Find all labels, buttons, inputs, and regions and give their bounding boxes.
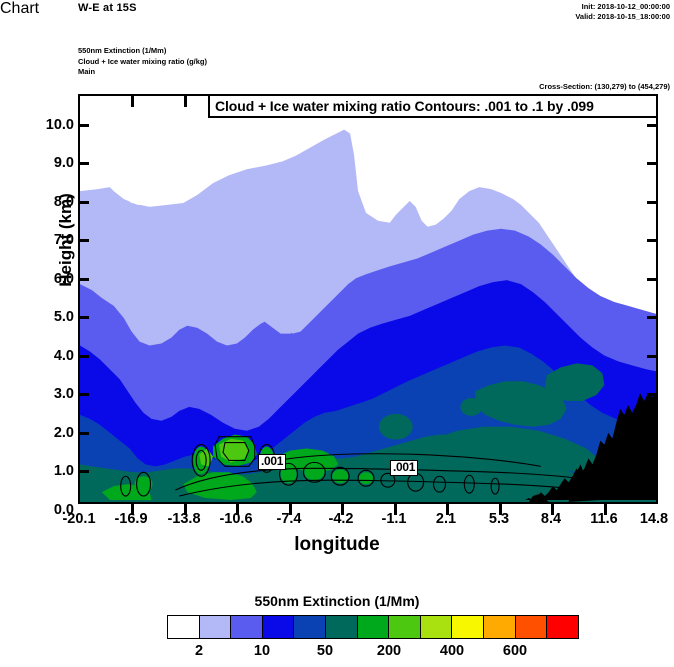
y-tick-mark [78,239,89,242]
y-tick-mark [78,470,89,473]
x-tick-label: 11.6 [576,511,632,527]
y-tick-mark-right [647,162,658,165]
x-tick-label: -7.4 [261,511,317,527]
contour-label: .001 [390,460,418,476]
plot-title: Cloud + Ice water mixing ratio Contours:… [208,96,658,118]
colorbar-tick-label: 50 [295,643,355,659]
x-tick-label: -1.1 [366,511,422,527]
y-tick-label: 9.0 [18,155,74,171]
x-tick-mark-top [184,96,187,107]
y-tick-mark [78,355,89,358]
y-tick-mark-right [647,432,658,435]
y-tick-mark-right [647,355,658,358]
y-tick-mark [78,201,89,204]
y-tick-mark [78,124,89,127]
y-tick-label: 8.0 [18,194,74,210]
colorbar-swatch [200,616,232,638]
colorbar-tick-label: 600 [485,643,545,659]
y-tick-mark [78,278,89,281]
y-tick-mark-right [647,393,658,396]
y-tick-mark [78,393,89,396]
y-tick-mark-right [647,239,658,242]
x-tick-label: -13.8 [156,511,212,527]
y-tick-mark-right [647,278,658,281]
colorbar-swatch [326,616,358,638]
colorbar-swatch [516,616,548,638]
x-tick-label: 2.1 [418,511,474,527]
colorbar-swatch [263,616,295,638]
y-tick-mark-right [647,124,658,127]
colorbar-swatch [421,616,453,638]
colorbar-tick-label: 10 [232,643,292,659]
x-tick-label: 14.8 [626,511,674,527]
contour-label: .001 [258,454,286,470]
colorbar-swatch [231,616,263,638]
colorbar-swatch [168,616,200,638]
y-tick-label: 7.0 [18,232,74,248]
y-tick-mark [78,316,89,319]
colorbar-swatch [389,616,421,638]
colorbar-tick-label: 2 [169,643,229,659]
y-tick-label: 2.0 [18,425,74,441]
colorbar-title: 550nm Extinction (1/Mm) [0,593,674,609]
y-tick-mark [78,162,89,165]
y-tick-mark-right [647,201,658,204]
colorbar-tick-label: 200 [359,643,419,659]
y-tick-label: 1.0 [18,463,74,479]
y-tick-label: 6.0 [18,271,74,287]
colorbar-swatch [547,616,578,638]
colorbar [167,615,579,639]
y-tick-label: 10.0 [18,117,74,133]
x-tick-label: -20.1 [51,511,107,527]
y-tick-mark [78,432,89,435]
x-tick-label: 5.3 [471,511,527,527]
y-tick-label: 4.0 [18,348,74,364]
x-tick-mark-top [131,96,134,107]
x-tick-label: 8.4 [523,511,579,527]
colorbar-tick-label: 400 [422,643,482,659]
x-tick-label: -4.2 [313,511,369,527]
y-tick-label: 5.0 [18,309,74,325]
colorbar-swatch [484,616,516,638]
colorbar-swatch [294,616,326,638]
colorbar-ticks: 2 10 50 200 400 600 [0,643,674,665]
y-tick-label: 3.0 [18,386,74,402]
x-tick-label: -10.6 [208,511,264,527]
colorbar-swatch [358,616,390,638]
y-tick-mark-right [647,316,658,319]
x-tick-label: -16.9 [103,511,159,527]
colorbar-swatch [452,616,484,638]
x-axis-label: longitude [0,534,674,556]
y-tick-mark-right [647,470,658,473]
